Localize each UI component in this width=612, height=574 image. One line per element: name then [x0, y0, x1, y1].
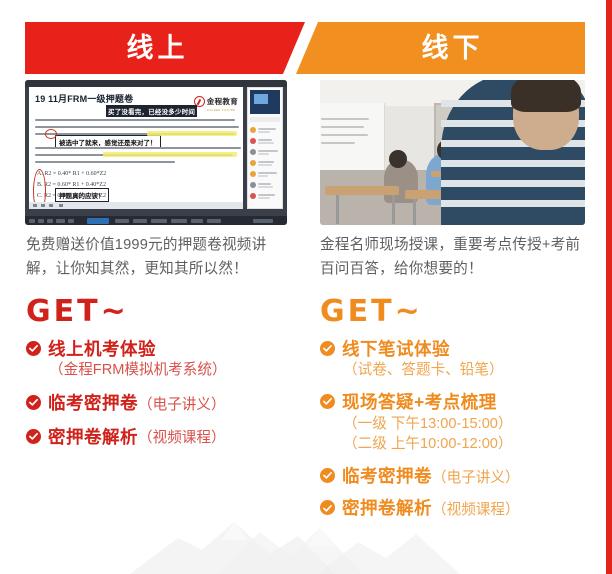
red-annotation-oval: [45, 129, 57, 139]
avatar: [250, 193, 256, 199]
jincheng-logo: 金程教育 GOLDEN FUTURE: [194, 91, 238, 112]
list-item-paren: （电子讲义）: [432, 466, 520, 487]
slide-title: 19 11月FRM一级押题卷: [35, 92, 133, 105]
online-benefit-list: 线上机考体验 （金程FRM模拟机考系统） 临考密押卷 （电子讲义） 密押卷解析 …: [26, 338, 298, 457]
video-control-bar[interactable]: [25, 216, 287, 225]
slide-choice: B. R2 = 0.60* R1 + 0.40*Z2: [37, 182, 106, 188]
list-item-title: 临考密押卷: [342, 465, 432, 487]
list-item[interactable]: 线下笔试体验 （试卷、答题卡、铅笔）: [320, 338, 600, 381]
offline-classroom-photo[interactable]: [320, 80, 585, 225]
list-item-paren: （视频课程）: [138, 426, 226, 447]
sidebar-video-thumbnail: [250, 90, 280, 114]
classroom-desk: [325, 186, 399, 195]
check-circle-icon: [320, 394, 335, 409]
logo-text: 金程教育: [207, 97, 238, 106]
banner-label-offline: 线下: [320, 22, 585, 74]
avatar: [250, 160, 256, 166]
avatar: [250, 138, 256, 144]
list-item-paren: （电子讲义）: [138, 393, 226, 414]
list-item-title: 临考密押卷: [48, 392, 138, 414]
video-window-titlebar: [25, 80, 287, 87]
banner-label-online: 线上: [25, 22, 290, 74]
sidebar-tabs[interactable]: [250, 117, 280, 122]
list-item-title: 线下笔试体验: [342, 338, 450, 360]
slide-text-line: [35, 161, 175, 163]
list-item-sub: （二级 上午10:00-12:00）: [320, 434, 600, 455]
slide-highlight-yellow: [147, 131, 237, 136]
offline-benefit-list: 线下笔试体验 （试卷、答题卡、铅笔） 现场答疑+考点梳理 （一级 下午13:00…: [320, 338, 600, 529]
slide-footer-bar: [29, 202, 243, 209]
list-item-sub: （金程FRM模拟机考系统）: [26, 360, 298, 381]
list-item-title: 现场答疑+考点梳理: [342, 391, 497, 413]
slide-highlight-yellow: [103, 152, 237, 157]
list-item-title: 密押卷解析: [342, 497, 432, 519]
video-sidebar-panel[interactable]: [247, 87, 283, 209]
annotation-dark-1: 买了没看完，已经没多少时间: [106, 105, 197, 117]
online-get-heading: GET~: [26, 294, 129, 329]
check-circle-icon: [26, 395, 41, 410]
list-item[interactable]: 线上机考体验 （金程FRM模拟机考系统）: [26, 338, 298, 381]
offline-description: 金程名师现场授课，重要考点传授+考前百问百答，给你想要的！: [320, 234, 592, 281]
avatar: [250, 171, 256, 177]
list-item-sub: （一级 下午13:00-15:00）: [320, 414, 600, 435]
avatar: [250, 182, 256, 188]
list-item-title: 密押卷解析: [48, 426, 138, 448]
slide-text-line: [35, 126, 239, 128]
list-item[interactable]: 密押卷解析 （视频课程）: [26, 426, 298, 448]
check-circle-icon: [320, 341, 335, 356]
slide-text-line: [35, 147, 241, 149]
avatar: [250, 149, 256, 155]
check-circle-icon: [320, 468, 335, 483]
avatar: [250, 127, 256, 133]
slide-choice: A. R2 = 0.40* R1 + 0.60*Z2: [37, 171, 106, 177]
online-description: 免费赠送价值1999元的押题卷视频讲解，让你知其然，更知其所以然！: [26, 234, 294, 281]
list-item[interactable]: 临考密押卷 （电子讲义）: [320, 465, 600, 487]
list-item-title: 线上机考体验: [48, 338, 156, 360]
check-circle-icon: [320, 500, 335, 515]
list-item[interactable]: 临考密押卷 （电子讲义）: [26, 392, 298, 414]
right-edge-stripe: [606, 0, 612, 574]
slide-choice: C. R2 = 0.40* R1 + 0.92*Z2: [37, 193, 106, 199]
projection-screen: [320, 103, 385, 170]
list-item[interactable]: 现场答疑+考点梳理 （一级 下午13:00-15:00） （二级 上午10:00…: [320, 391, 600, 455]
slide-text-line: [35, 119, 235, 121]
list-item[interactable]: 密押卷解析 （视频课程）: [320, 497, 600, 519]
logo-subtext: GOLDEN FUTURE: [207, 109, 238, 112]
online-course-video-screenshot[interactable]: 19 11月FRM一级押题卷 金程教育 GOLDEN FUTURE 买了没看完，…: [25, 80, 287, 225]
list-item-sub: （试卷、答题卡、铅笔）: [320, 360, 600, 381]
foreground-student-hair: [511, 80, 581, 112]
offline-get-heading: GET~: [320, 294, 423, 329]
video-slide-area: 19 11月FRM一级押题卷 金程教育 GOLDEN FUTURE 买了没看完，…: [29, 87, 243, 209]
check-circle-icon: [26, 429, 41, 444]
list-item-paren: （视频课程）: [432, 498, 520, 519]
promo-page: 线上 线下 19 11月FRM一级押题卷 金程教育 GOLDEN FUTURE …: [0, 0, 612, 574]
check-circle-icon: [26, 341, 41, 356]
